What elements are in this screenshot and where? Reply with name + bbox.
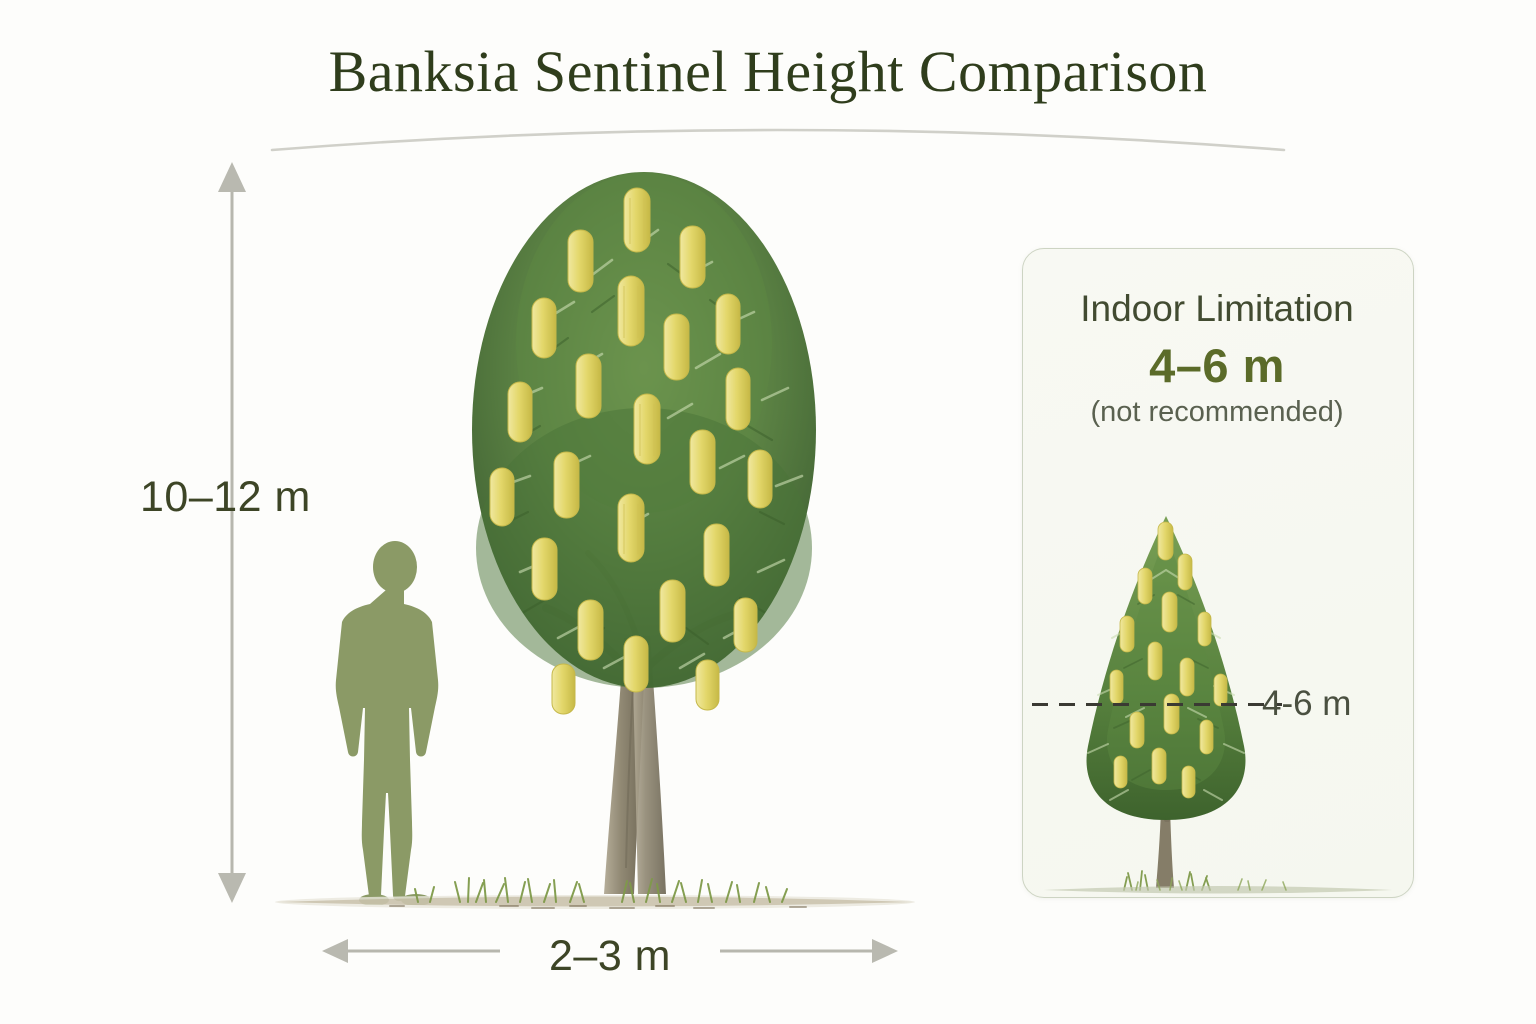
width-label: 2–3 m (500, 932, 720, 981)
indoor-height-dashed-line (1032, 703, 1282, 706)
indoor-banksia-tree-illustration (1068, 508, 1268, 893)
ground-base (270, 862, 920, 912)
indoor-card-ground (1040, 862, 1396, 898)
indoor-card-value: 4–6 m (1022, 338, 1412, 393)
indoor-card-note: (not recommended) (1022, 396, 1412, 429)
height-label: 10–12 m (140, 473, 340, 522)
title-decorative-arc (268, 108, 1288, 154)
infographic-canvas: Banksia Sentinel Height Comparison 10–12… (0, 0, 1536, 1024)
height-measure-arrow (206, 160, 258, 905)
indoor-card-title: Indoor Limitation (1022, 288, 1412, 330)
page-title: Banksia Sentinel Height Comparison (0, 38, 1536, 105)
banksia-tree-illustration (428, 168, 860, 908)
indoor-height-dash-label: 4-6 m (1262, 684, 1432, 724)
